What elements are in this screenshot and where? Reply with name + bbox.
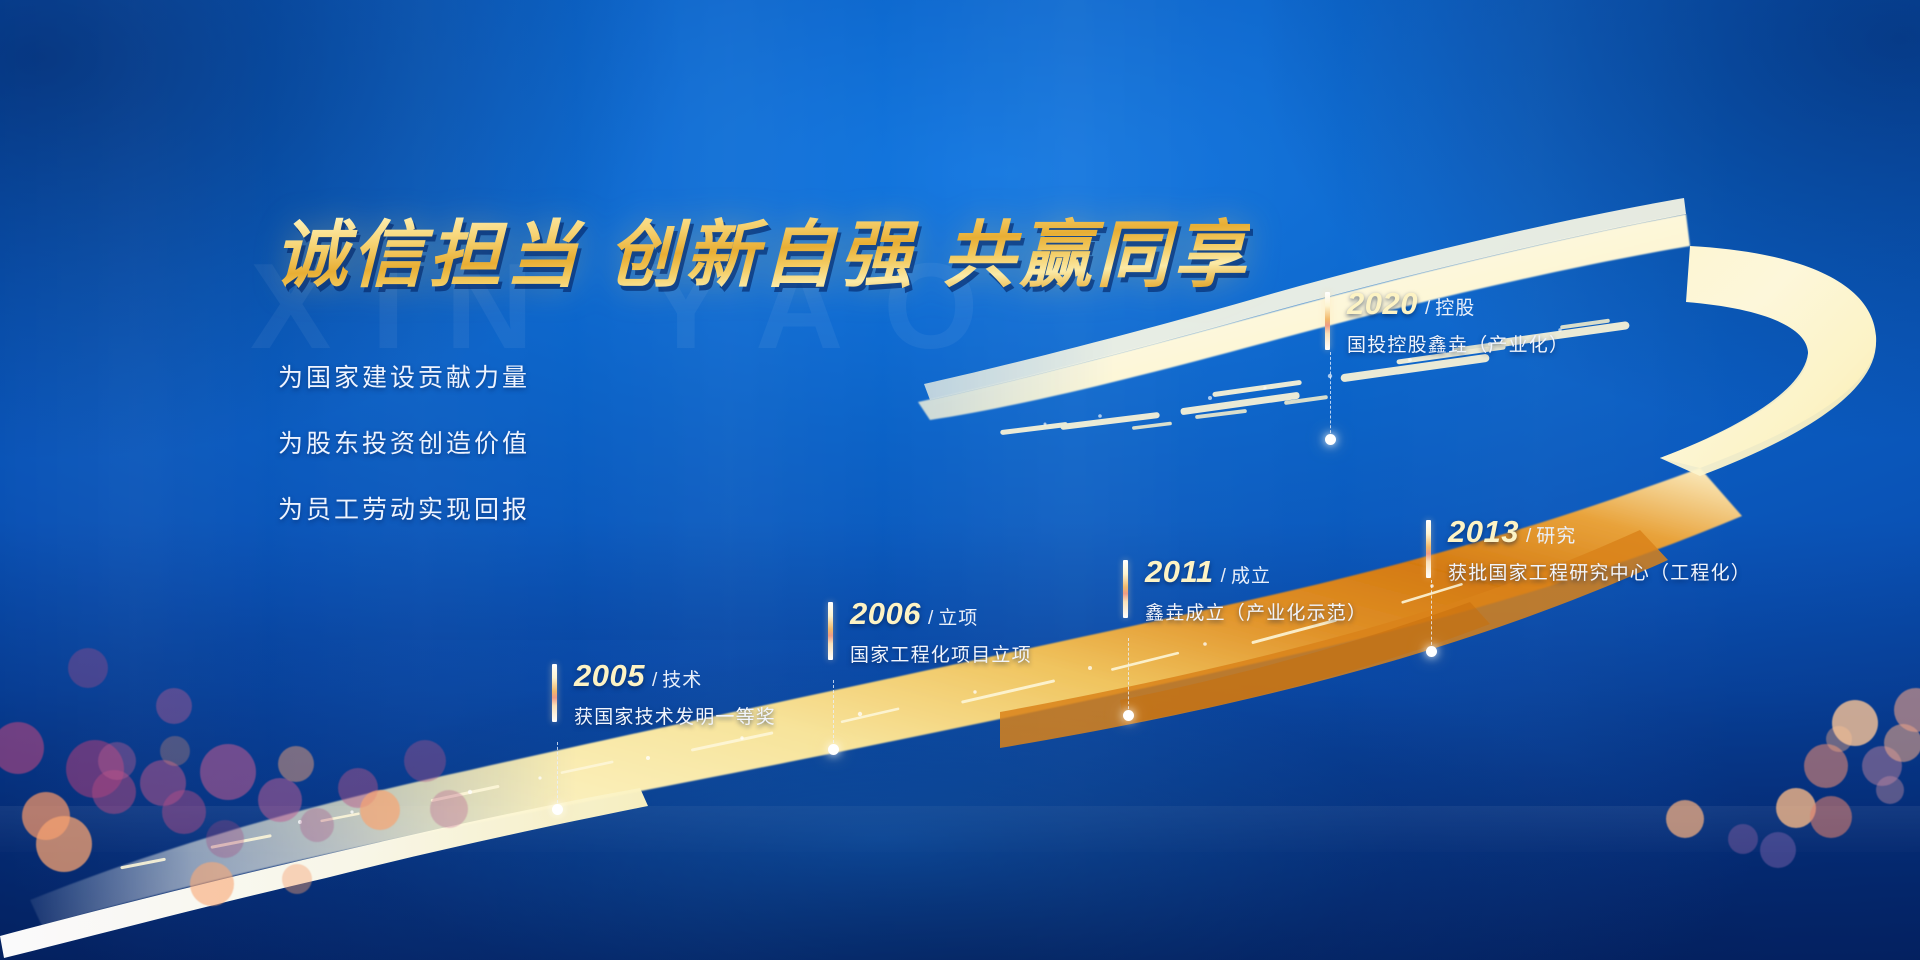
milestone-year: 2020 — [1347, 286, 1418, 321]
milestone-headline: 2011/成立 — [1145, 556, 1367, 587]
bokeh-circle — [1760, 832, 1796, 868]
milestone-year: 2006 — [850, 596, 921, 631]
bokeh-circle — [1666, 800, 1704, 838]
headline-part-3: 共赢同享 — [942, 215, 1250, 296]
bokeh-circle — [360, 790, 400, 830]
subtitle-line-1: 为国家建设贡献力量 — [278, 358, 530, 394]
milestone-year: 2013 — [1448, 514, 1519, 549]
milestone-year: 2005 — [574, 658, 645, 693]
milestone-text: 2013/研究 获批国家工程研究中心（工程化） — [1448, 516, 1751, 585]
milestone-separator: / — [1526, 526, 1531, 547]
bokeh-circle — [36, 816, 92, 872]
bokeh-circle — [1728, 824, 1758, 854]
milestone-headline: 2013/研究 — [1448, 516, 1751, 547]
bokeh-circle — [206, 820, 244, 858]
milestone-description: 国家工程化项目立项 — [850, 640, 1032, 667]
bokeh-circle — [200, 744, 256, 800]
milestone-tag: 控股 — [1435, 298, 1475, 319]
connector-2020 — [1330, 352, 1331, 438]
milestone-tag: 技术 — [662, 670, 702, 691]
milestone-tag: 研究 — [1536, 526, 1576, 547]
milestone-headline: 2020/控股 — [1347, 288, 1569, 319]
bokeh-circle — [430, 790, 468, 828]
milestone-text: 2020/控股 国投控股鑫垚（产业化） — [1347, 288, 1569, 357]
connector-2011 — [1128, 638, 1129, 714]
milestone-accent-bar — [1426, 520, 1431, 578]
milestone-separator: / — [1425, 298, 1430, 319]
subtitle-list: 为国家建设贡献力量 为股东投资创造价值 为员工劳动实现回报 — [278, 358, 530, 556]
milestone-headline: 2005/技术 — [574, 660, 776, 691]
connector-2005 — [557, 742, 558, 808]
bokeh-circle — [160, 736, 190, 766]
bokeh-circle — [404, 740, 446, 782]
subtitle-line-3: 为员工劳动实现回报 — [278, 490, 530, 526]
timeline-dot-2006 — [828, 744, 839, 755]
milestone-text: 2011/成立 鑫垚成立（产业化示范） — [1145, 556, 1367, 625]
milestone-description: 国投控股鑫垚（产业化） — [1347, 330, 1569, 357]
bokeh-circle — [68, 648, 108, 688]
milestone-separator: / — [652, 670, 657, 691]
bokeh-circle — [1810, 796, 1852, 838]
bokeh-circle — [1876, 776, 1904, 804]
timeline-dot-2005 — [552, 804, 563, 815]
connector-2013 — [1431, 580, 1432, 650]
milestone-text: 2006/立项 国家工程化项目立项 — [850, 598, 1032, 667]
timeline-dot-2020 — [1325, 434, 1336, 445]
milestone-accent-bar — [828, 602, 833, 660]
milestone-accent-bar — [1325, 292, 1330, 350]
bokeh-circle — [300, 808, 334, 842]
page-title: 诚信担当创新自强共赢同享 — [274, 196, 1250, 302]
connector-2006 — [833, 680, 834, 748]
bokeh-circle — [282, 864, 312, 894]
bokeh-circle — [156, 688, 192, 724]
timeline-dot-2013 — [1426, 646, 1437, 657]
milestone-year: 2011 — [1145, 554, 1214, 589]
bokeh-circle — [162, 790, 206, 834]
milestone-headline: 2006/立项 — [850, 598, 1032, 629]
milestone-description: 获国家技术发明一等奖 — [574, 702, 776, 729]
bokeh-circle — [190, 862, 234, 906]
bokeh-circle — [278, 746, 314, 782]
subtitle-line-2: 为股东投资创造价值 — [278, 424, 530, 460]
banner-canvas: XIN YAO 诚信担当创新自强共赢同享 为国家建设贡献力量 为股东投资创造价值… — [0, 0, 1920, 960]
bokeh-circle — [98, 742, 136, 780]
milestone-accent-bar — [1123, 560, 1128, 618]
milestone-separator: / — [928, 608, 933, 629]
milestone-text: 2005/技术 获国家技术发明一等奖 — [574, 660, 776, 729]
milestone-accent-bar — [552, 664, 557, 722]
bokeh-circle — [1832, 700, 1878, 746]
bokeh-circle — [258, 778, 302, 822]
headline-part-1: 诚信担当 — [274, 215, 582, 296]
milestone-separator: / — [1221, 566, 1226, 587]
headline-part-2: 创新自强 — [608, 215, 916, 296]
milestone-tag: 立项 — [938, 608, 978, 629]
timeline-dot-2011 — [1123, 710, 1134, 721]
milestone-description: 获批国家工程研究中心（工程化） — [1448, 558, 1751, 585]
milestone-description: 鑫垚成立（产业化示范） — [1145, 598, 1367, 625]
milestone-tag: 成立 — [1231, 566, 1271, 587]
